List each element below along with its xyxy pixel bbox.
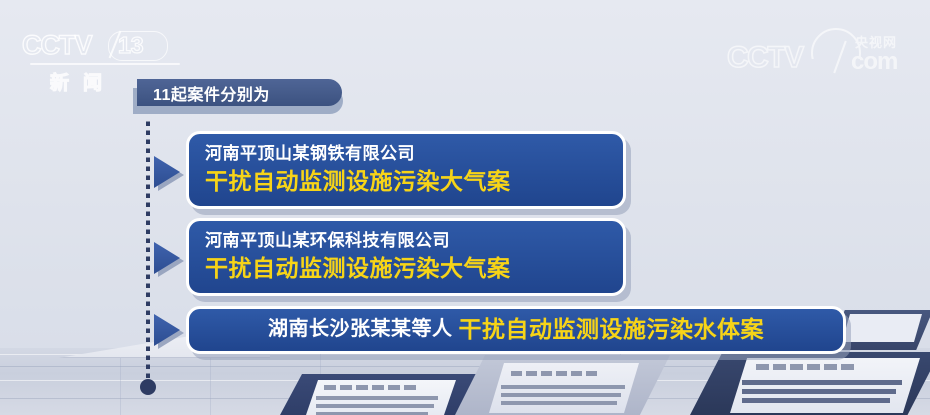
case-title: 干扰自动监测设施污染大气案 — [205, 166, 607, 196]
timeline-end-dot — [140, 379, 156, 395]
broadcast-graphic: CCTV 13 新闻 CCTV 央视网 com 11起案件分别为 河南平顶山某钢… — [0, 0, 930, 415]
case-card[interactable]: 河南平顶山某钢铁有限公司 干扰自动监测设施污染大气案 — [186, 131, 626, 209]
case-subject: 河南平顶山某环保科技有限公司 — [205, 229, 607, 253]
watermark-cctv-text: CCTV — [727, 42, 803, 74]
document-illustration — [455, 355, 670, 415]
banner-label: 11起案件分别为 — [137, 81, 270, 105]
case-card[interactable]: 湖南长沙张某某等人 干扰自动监测设施污染水体案 — [186, 306, 846, 354]
cctv-com-watermark: CCTV 央视网 com — [727, 28, 912, 76]
case-card[interactable]: 河南平顶山某环保科技有限公司 干扰自动监测设施污染大气案 — [186, 218, 626, 296]
timeline-dotted-line — [146, 118, 150, 386]
case-subject: 河南平顶山某钢铁有限公司 — [205, 142, 607, 166]
list-arrow-icon — [154, 242, 180, 274]
document-illustration — [280, 368, 480, 415]
floor-grid-line — [210, 352, 211, 415]
case-title: 干扰自动监测设施污染大气案 — [205, 253, 607, 283]
channel-logo-number: 13 — [118, 30, 144, 60]
list-arrow-icon — [154, 314, 180, 346]
floor-grid-line — [120, 352, 121, 415]
watermark-com-text: com — [851, 48, 897, 76]
section-banner: 11起案件分别为 — [137, 79, 342, 106]
document-illustration — [690, 352, 930, 415]
list-arrow-icon — [154, 156, 180, 188]
case-title: 干扰自动监测设施污染水体案 — [459, 314, 765, 344]
case-subject: 湖南长沙张某某等人 — [268, 314, 453, 344]
channel-logo-rule — [30, 63, 180, 65]
